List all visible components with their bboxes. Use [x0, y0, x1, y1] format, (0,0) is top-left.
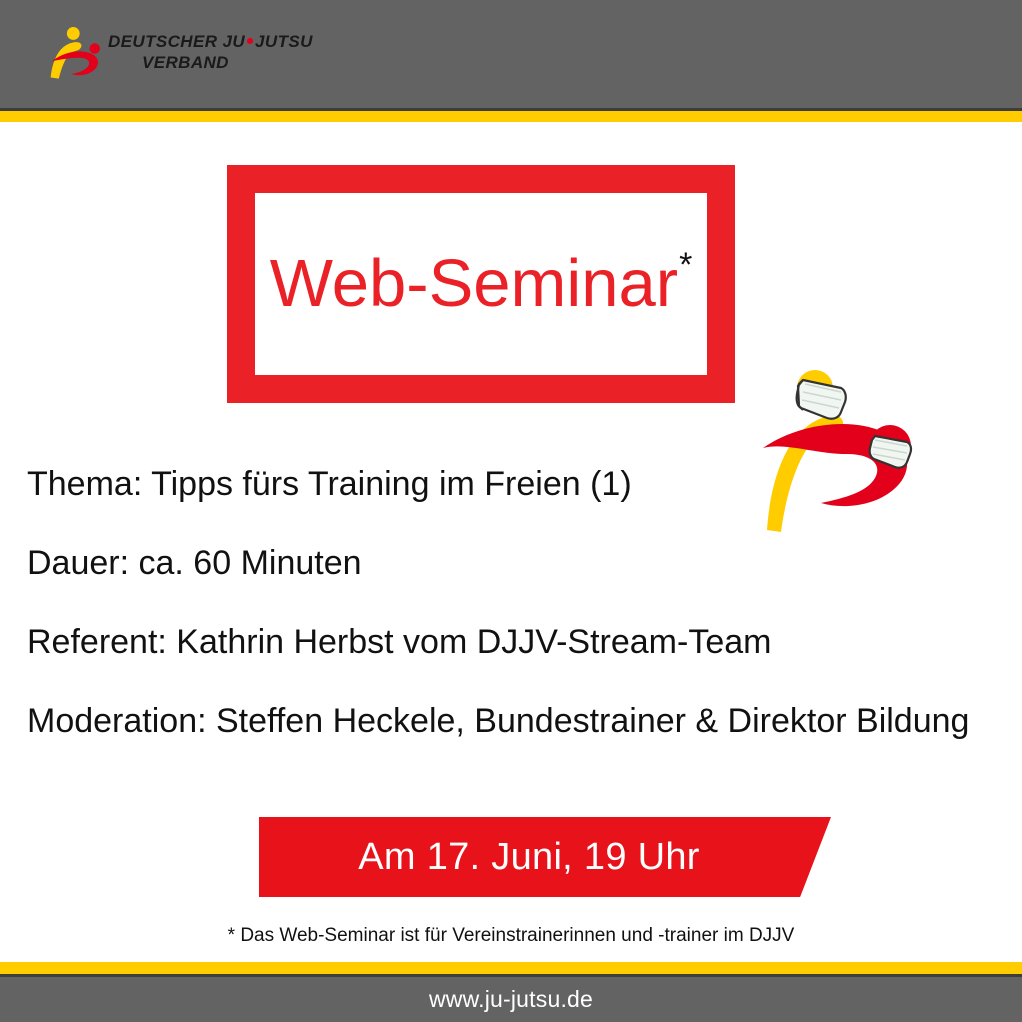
brand-logo-line1-prefix: DEUTSCHER JU	[108, 32, 245, 51]
footnote-text: * Das Web-Seminar ist für Vereinstrainer…	[0, 925, 1022, 947]
poster-canvas: DEUTSCHER JUJUTSU VERBAND Web-Seminar*	[0, 0, 1022, 1022]
brand-logo-line2: VERBAND	[108, 52, 288, 73]
header-yellow-stripe	[0, 111, 1022, 122]
detail-line-moderation: Moderation: Steffen Heckele, Bundestrain…	[27, 701, 987, 741]
page-title: Web-Seminar*	[255, 248, 707, 317]
footer-website-url[interactable]: www.ju-jutsu.de	[0, 977, 1022, 1022]
detail-line-topic: Thema: Tipps fürs Training im Freien (1)	[27, 464, 987, 504]
brand-logo-separator-dot	[247, 38, 253, 44]
footer-yellow-stripe	[0, 962, 1022, 974]
brand-logo-text: DEUTSCHER JUJUTSU VERBAND	[108, 31, 288, 73]
footnote-marker-asterisk: *	[679, 246, 692, 284]
brand-logo-line1: DEUTSCHER JUJUTSU	[108, 31, 288, 52]
djjv-figure-logo-icon	[46, 23, 104, 81]
seminar-details-list: Thema: Tipps fürs Training im Freien (1)…	[27, 464, 987, 741]
detail-line-duration: Dauer: ca. 60 Minuten	[27, 543, 987, 583]
web-seminar-frame: Web-Seminar*	[227, 165, 735, 403]
brand-logo[interactable]: DEUTSCHER JUJUTSU VERBAND	[46, 23, 278, 85]
brand-logo-line1-suffix: JUTSU	[255, 32, 313, 51]
web-seminar-frame-inner: Web-Seminar*	[255, 193, 707, 375]
face-mask-upper	[797, 380, 846, 419]
detail-line-speaker: Referent: Kathrin Herbst vom DJJV-Stream…	[27, 622, 987, 662]
date-banner-label: Am 17. Juni, 19 Uhr	[259, 817, 799, 897]
page-title-text: Web-Seminar	[270, 246, 678, 321]
